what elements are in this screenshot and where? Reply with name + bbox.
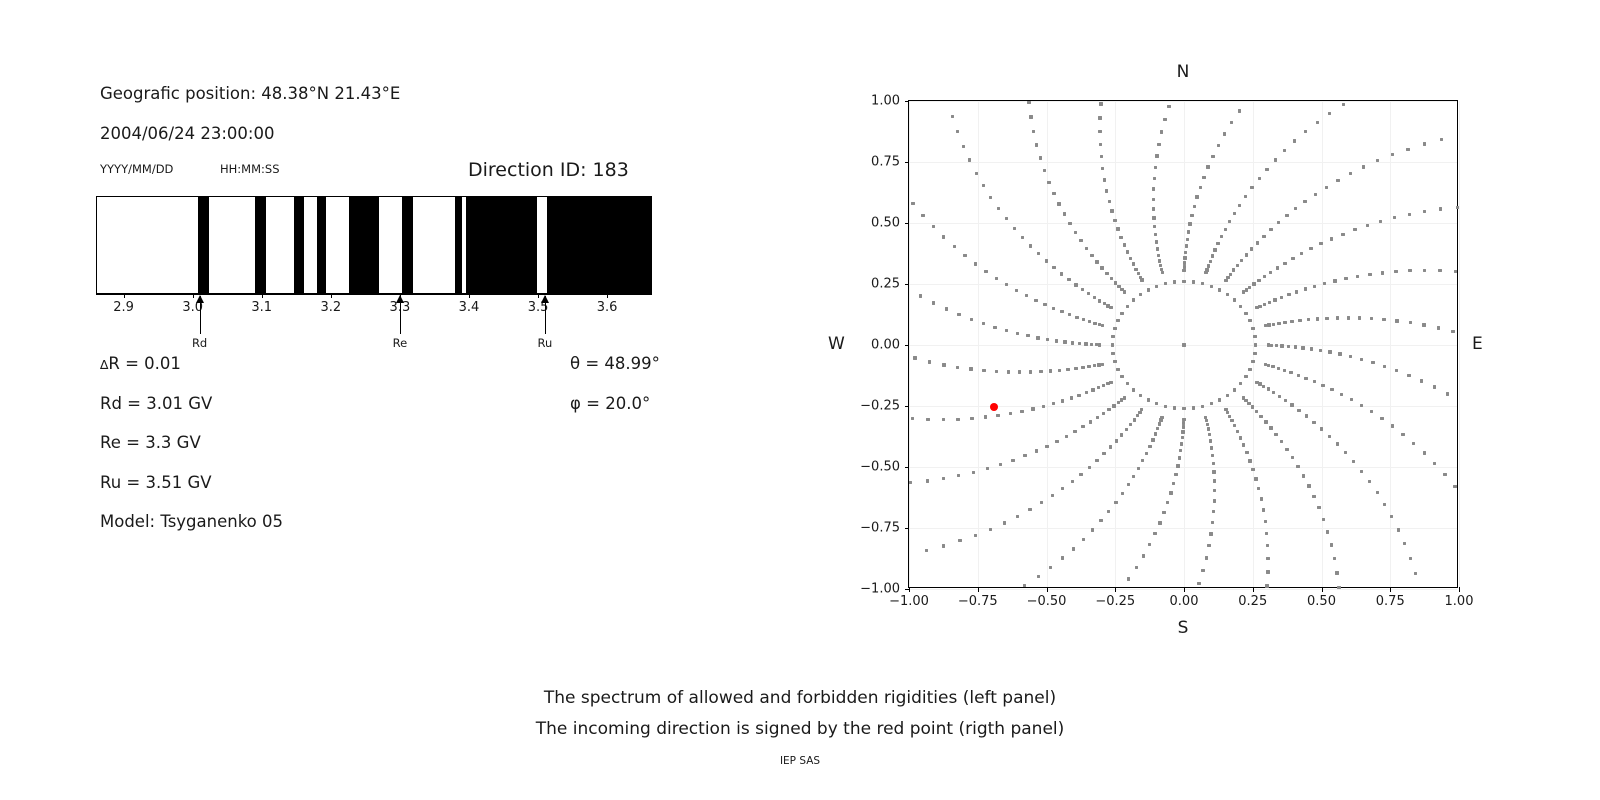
direction-point xyxy=(1307,484,1310,487)
direction-point xyxy=(1401,433,1404,436)
direction-point xyxy=(1349,355,1352,358)
direction-point xyxy=(1182,280,1185,283)
y-tick xyxy=(905,284,910,285)
direction-point xyxy=(1262,385,1265,388)
direction-point xyxy=(1043,303,1046,306)
direction-point xyxy=(1023,584,1026,587)
direction-point xyxy=(1226,394,1229,397)
direction-point xyxy=(1159,264,1162,267)
forbidden-band xyxy=(255,197,265,293)
direction-point xyxy=(1039,156,1042,159)
direction-point xyxy=(1368,480,1371,483)
direction-point xyxy=(1226,293,1229,296)
direction-point xyxy=(1039,370,1042,373)
direction-point xyxy=(1172,482,1175,485)
direction-point xyxy=(1233,298,1236,301)
compass-label-north: N xyxy=(908,62,1458,82)
direction-point xyxy=(970,417,973,420)
direction-point xyxy=(1394,270,1397,273)
direction-point xyxy=(1349,172,1352,175)
direction-point xyxy=(1158,259,1161,262)
direction-point xyxy=(1020,410,1023,413)
forbidden-band xyxy=(349,197,379,293)
x-tick-label: 0.75 xyxy=(1376,594,1405,609)
direction-point xyxy=(926,418,929,421)
direction-point xyxy=(1251,405,1254,408)
direction-point xyxy=(1244,375,1247,378)
direction-point xyxy=(1113,219,1116,222)
direction-point xyxy=(1262,508,1265,511)
date-format-hint: YYYY/MM/DD xyxy=(100,162,173,176)
direction-point xyxy=(921,214,924,217)
direction-point xyxy=(1182,421,1185,424)
direction-point xyxy=(1226,411,1229,414)
x-tick-label: −0.25 xyxy=(1095,594,1135,609)
direction-point xyxy=(1263,303,1266,306)
direction-point xyxy=(1125,428,1128,431)
direction-point xyxy=(1081,288,1084,291)
direction-point xyxy=(1454,270,1457,273)
direction-point xyxy=(1366,224,1369,227)
direction-point xyxy=(1216,242,1219,245)
direction-point xyxy=(1145,452,1148,455)
direction-point xyxy=(1201,569,1204,572)
direction-point xyxy=(1336,316,1339,319)
direction-point xyxy=(1152,187,1155,190)
direction-point xyxy=(1176,464,1179,467)
direction-point xyxy=(1103,178,1106,181)
direction-point xyxy=(1026,334,1029,337)
info-theta: θ = 48.99° xyxy=(570,354,660,373)
direction-point xyxy=(1266,544,1269,547)
direction-point xyxy=(1304,377,1307,380)
incoming-direction-point[interactable] xyxy=(990,403,998,411)
y-tick xyxy=(905,528,910,529)
direction-point xyxy=(1245,451,1248,454)
direction-point xyxy=(1322,518,1325,521)
x-tick-label: −0.75 xyxy=(958,594,998,609)
direction-point xyxy=(1099,519,1102,522)
direction-point xyxy=(1408,213,1411,216)
direction-point xyxy=(1084,342,1087,345)
direction-point xyxy=(1239,382,1242,385)
direction-point xyxy=(1257,279,1260,282)
direction-point xyxy=(1112,404,1115,407)
direction-point xyxy=(1251,360,1254,363)
y-tick xyxy=(905,162,910,163)
direction-id-label: Direction ID: 183 xyxy=(468,159,629,181)
y-tick xyxy=(905,101,910,102)
direction-point xyxy=(1109,306,1112,309)
direction-point xyxy=(1277,367,1280,370)
y-tick-label: 0.00 xyxy=(871,338,900,353)
direction-point xyxy=(1155,240,1158,243)
direction-point xyxy=(1074,231,1077,234)
direction-point xyxy=(1091,528,1094,531)
direction-point xyxy=(1208,433,1211,436)
direction-point xyxy=(1099,102,1102,105)
direction-point xyxy=(1195,195,1198,198)
direction-point xyxy=(1102,412,1105,415)
direction-point xyxy=(1340,393,1343,396)
direction-point xyxy=(1040,501,1043,504)
direction-point xyxy=(1325,186,1328,189)
compass-label-west: W xyxy=(828,334,845,354)
direction-point xyxy=(1285,214,1288,217)
x-tick-label: 1.00 xyxy=(1445,594,1474,609)
marker-label: Re xyxy=(393,336,408,350)
direction-point xyxy=(1210,285,1213,288)
direction-point xyxy=(968,158,971,161)
direction-point xyxy=(957,474,960,477)
direction-point xyxy=(1182,343,1185,346)
x-tick xyxy=(1047,587,1048,592)
direction-point xyxy=(1095,260,1098,263)
direction-point xyxy=(1360,470,1363,473)
direction-point xyxy=(1264,420,1267,423)
direction-scatter-plot: −1.00−0.75−0.50−0.250.000.250.500.751.00… xyxy=(908,100,1458,588)
direction-point xyxy=(1380,417,1383,420)
direction-point xyxy=(1068,222,1071,225)
direction-point xyxy=(1330,237,1333,240)
direction-point xyxy=(1293,139,1296,142)
direction-point xyxy=(1055,339,1058,342)
direction-point xyxy=(1045,259,1048,262)
direction-point xyxy=(1317,506,1320,509)
direction-point xyxy=(1217,144,1220,147)
direction-point xyxy=(1412,442,1415,445)
direction-point xyxy=(1300,252,1303,255)
direction-point xyxy=(1018,370,1021,373)
direction-point xyxy=(1089,420,1092,423)
direction-point xyxy=(1096,416,1099,419)
direction-point xyxy=(982,184,985,187)
direction-point xyxy=(995,370,998,373)
spectrum-tick-label: 2.9 xyxy=(113,300,134,315)
direction-point xyxy=(1328,350,1331,353)
direction-point xyxy=(1251,468,1254,471)
direction-point xyxy=(1390,515,1393,518)
direction-point xyxy=(1211,155,1214,158)
direction-point xyxy=(1013,227,1016,230)
direction-point xyxy=(1197,582,1200,585)
direction-point xyxy=(1245,253,1248,256)
direction-point xyxy=(1185,244,1188,247)
forbidden-band xyxy=(547,197,652,293)
direction-point xyxy=(1136,414,1139,417)
direction-point xyxy=(1312,421,1315,424)
direction-point xyxy=(1159,418,1162,421)
direction-point xyxy=(1098,299,1101,302)
direction-point xyxy=(1157,254,1160,257)
direction-point xyxy=(1047,181,1050,184)
direction-point xyxy=(1052,192,1055,195)
direction-point xyxy=(1099,143,1102,146)
direction-point xyxy=(969,367,972,370)
direction-point xyxy=(1093,296,1096,299)
direction-point xyxy=(1356,275,1359,278)
direction-point xyxy=(1409,321,1412,324)
x-tick xyxy=(978,587,979,592)
direction-point xyxy=(1057,202,1060,205)
direction-point xyxy=(1127,483,1130,486)
direction-point xyxy=(942,544,945,547)
direction-point xyxy=(1180,442,1183,445)
direction-point xyxy=(1132,298,1135,301)
direction-point xyxy=(1110,277,1113,280)
direction-point xyxy=(1280,344,1283,347)
direction-point xyxy=(1341,233,1344,236)
direction-point xyxy=(1035,449,1038,452)
datetime-label: 2004/06/24 23:00:00 xyxy=(100,124,274,143)
direction-point xyxy=(1102,452,1105,455)
gridline-horizontal xyxy=(909,223,1457,224)
direction-point xyxy=(1258,305,1261,308)
direction-point xyxy=(1097,386,1100,389)
spectrum-tick-label: 3.2 xyxy=(320,300,341,315)
direction-point xyxy=(1383,365,1386,368)
direction-point xyxy=(1338,352,1341,355)
direction-point xyxy=(1271,365,1274,368)
direction-point xyxy=(1058,369,1061,372)
direction-point xyxy=(1276,266,1279,269)
direction-point xyxy=(1393,216,1396,219)
direction-point xyxy=(925,549,928,552)
direction-point xyxy=(1049,566,1052,569)
direction-point xyxy=(1270,344,1273,347)
direction-point xyxy=(1181,436,1184,439)
direction-point xyxy=(1085,391,1088,394)
direction-point xyxy=(1120,288,1123,291)
direction-point xyxy=(1453,485,1456,488)
direction-point xyxy=(1178,456,1181,459)
direction-point xyxy=(1267,387,1270,390)
direction-point xyxy=(1029,115,1032,118)
direction-point xyxy=(996,414,999,417)
direction-point xyxy=(957,313,960,316)
direction-point xyxy=(1283,321,1286,324)
direction-point xyxy=(1164,282,1167,285)
direction-point xyxy=(1113,360,1116,363)
direction-point xyxy=(1211,454,1214,457)
direction-point xyxy=(1052,266,1055,269)
direction-point xyxy=(1212,510,1215,513)
info-Re: Re = 3.3 GV xyxy=(100,433,201,452)
direction-point xyxy=(1422,323,1425,326)
direction-point xyxy=(1101,324,1104,327)
direction-point xyxy=(1115,439,1118,442)
direction-point xyxy=(1186,238,1189,241)
spectrum-tick xyxy=(607,294,608,298)
direction-point xyxy=(951,115,954,118)
direction-point xyxy=(1123,243,1126,246)
direction-point xyxy=(1205,268,1208,271)
direction-point xyxy=(1037,575,1040,578)
direction-point xyxy=(1052,402,1055,405)
direction-point xyxy=(1098,116,1101,119)
spectrum-tick xyxy=(331,294,332,298)
direction-point xyxy=(1438,269,1441,272)
direction-point xyxy=(1088,320,1091,323)
direction-point xyxy=(1223,132,1226,135)
direction-point xyxy=(1233,212,1236,215)
direction-point xyxy=(1151,438,1154,441)
direction-point xyxy=(1029,244,1032,247)
marker-label: Rd xyxy=(192,336,207,350)
direction-point xyxy=(975,172,978,175)
direction-point xyxy=(1242,443,1245,446)
direction-point xyxy=(1218,398,1221,401)
direction-point xyxy=(1155,154,1158,157)
incoming-direction-panel: N S W E −1.00−0.75−0.50−0.250.000.250.50… xyxy=(820,40,1520,660)
direction-point xyxy=(1109,445,1112,448)
direction-point xyxy=(1174,473,1177,476)
direction-point xyxy=(1063,340,1066,343)
direction-point xyxy=(1240,259,1243,262)
direction-point xyxy=(1025,294,1028,297)
direction-point xyxy=(1100,155,1103,158)
direction-point xyxy=(1383,503,1386,506)
direction-point xyxy=(1320,427,1323,430)
direction-point xyxy=(1254,477,1257,480)
direction-point xyxy=(1139,276,1142,279)
x-tick xyxy=(1390,587,1391,592)
direction-point xyxy=(1045,445,1048,448)
spectrum-tick xyxy=(469,294,470,298)
direction-point xyxy=(1093,364,1096,367)
direction-point xyxy=(1181,430,1184,433)
direction-point xyxy=(982,369,985,372)
direction-point xyxy=(1304,130,1307,133)
marker-arrow-icon xyxy=(396,295,404,303)
time-format-hint: HH:MM:SS xyxy=(220,162,280,176)
direction-point xyxy=(1129,257,1132,260)
direction-point xyxy=(1090,254,1093,257)
direction-point xyxy=(984,415,987,418)
direction-point xyxy=(1382,318,1385,321)
direction-point xyxy=(1244,312,1247,315)
gridline-horizontal xyxy=(909,467,1457,468)
direction-point xyxy=(1126,305,1129,308)
direction-point xyxy=(1323,282,1326,285)
direction-point xyxy=(1423,142,1426,145)
compass-label-east: E xyxy=(1472,334,1483,354)
direction-point xyxy=(1268,301,1271,304)
spectrum-tick-label: 3.6 xyxy=(597,300,618,315)
direction-point xyxy=(1330,388,1333,391)
rigidity-spectrum-panel: Geografic position: 48.38°N 21.43°E 2004… xyxy=(0,0,780,620)
marker-arrow-icon xyxy=(196,295,204,303)
direction-point xyxy=(1100,266,1103,269)
direction-point xyxy=(1309,247,1312,250)
direction-point xyxy=(1016,332,1019,335)
direction-point xyxy=(1110,209,1113,212)
direction-point xyxy=(1155,285,1158,288)
direction-point xyxy=(1232,268,1235,271)
direction-point xyxy=(1262,235,1265,238)
direction-point xyxy=(1347,316,1350,319)
direction-point xyxy=(1182,425,1185,428)
direction-point xyxy=(1135,566,1138,569)
y-tick-label: 1.00 xyxy=(871,94,900,109)
gridline-vertical xyxy=(1115,101,1116,587)
direction-point xyxy=(1192,406,1195,409)
direction-point xyxy=(1297,409,1300,412)
direction-point xyxy=(1344,451,1347,454)
direction-point xyxy=(1103,302,1106,305)
direction-point xyxy=(958,539,961,542)
direction-point xyxy=(1204,271,1207,274)
direction-point xyxy=(1371,361,1374,364)
direction-point xyxy=(909,481,912,484)
direction-point xyxy=(1105,272,1108,275)
direction-point xyxy=(1244,195,1247,198)
direction-point xyxy=(1061,556,1064,559)
direction-point xyxy=(1081,366,1084,369)
direction-point xyxy=(1283,262,1286,265)
direction-point xyxy=(972,471,975,474)
direction-point xyxy=(1061,399,1064,402)
direction-point xyxy=(984,270,987,273)
direction-point xyxy=(1238,109,1241,112)
direction-point xyxy=(1368,273,1371,276)
direction-point xyxy=(1167,105,1170,108)
marker-arrow-icon xyxy=(541,295,549,303)
direction-point xyxy=(1205,556,1208,559)
direction-point xyxy=(1267,323,1270,326)
direction-point xyxy=(1265,168,1268,171)
direction-point xyxy=(1120,375,1123,378)
direction-point xyxy=(1409,557,1412,560)
direction-point xyxy=(1201,405,1204,408)
direction-point xyxy=(1325,317,1328,320)
direction-point xyxy=(942,477,945,480)
direction-point xyxy=(995,277,998,280)
direction-point xyxy=(1137,467,1140,470)
direction-point xyxy=(1207,427,1210,430)
direction-point xyxy=(1211,521,1214,524)
direction-point xyxy=(1032,130,1035,133)
direction-point xyxy=(1098,343,1101,346)
direction-point xyxy=(1029,370,1032,373)
direction-point xyxy=(1209,260,1212,263)
direction-point xyxy=(1126,382,1129,385)
direction-point xyxy=(1395,319,1398,322)
direction-point xyxy=(1087,365,1090,368)
direction-point xyxy=(1148,543,1151,546)
direction-point xyxy=(1113,327,1116,330)
direction-point xyxy=(1414,572,1417,575)
x-tick-label: 0.00 xyxy=(1170,594,1199,609)
direction-point xyxy=(1251,327,1254,330)
direction-point xyxy=(1446,392,1449,395)
direction-point xyxy=(1109,381,1112,384)
direction-point xyxy=(1260,497,1263,500)
direction-point xyxy=(1220,235,1223,238)
direction-point xyxy=(1134,268,1137,271)
direction-point xyxy=(1280,296,1283,299)
direction-point xyxy=(997,207,1000,210)
direction-point xyxy=(1212,462,1215,465)
direction-point xyxy=(928,360,931,363)
direction-point xyxy=(1209,439,1212,442)
direction-point xyxy=(1119,236,1122,239)
forbidden-band xyxy=(402,197,413,293)
direction-point xyxy=(1230,121,1233,124)
axis-line xyxy=(96,294,652,295)
direction-point xyxy=(1423,269,1426,272)
direction-point xyxy=(1127,577,1130,580)
